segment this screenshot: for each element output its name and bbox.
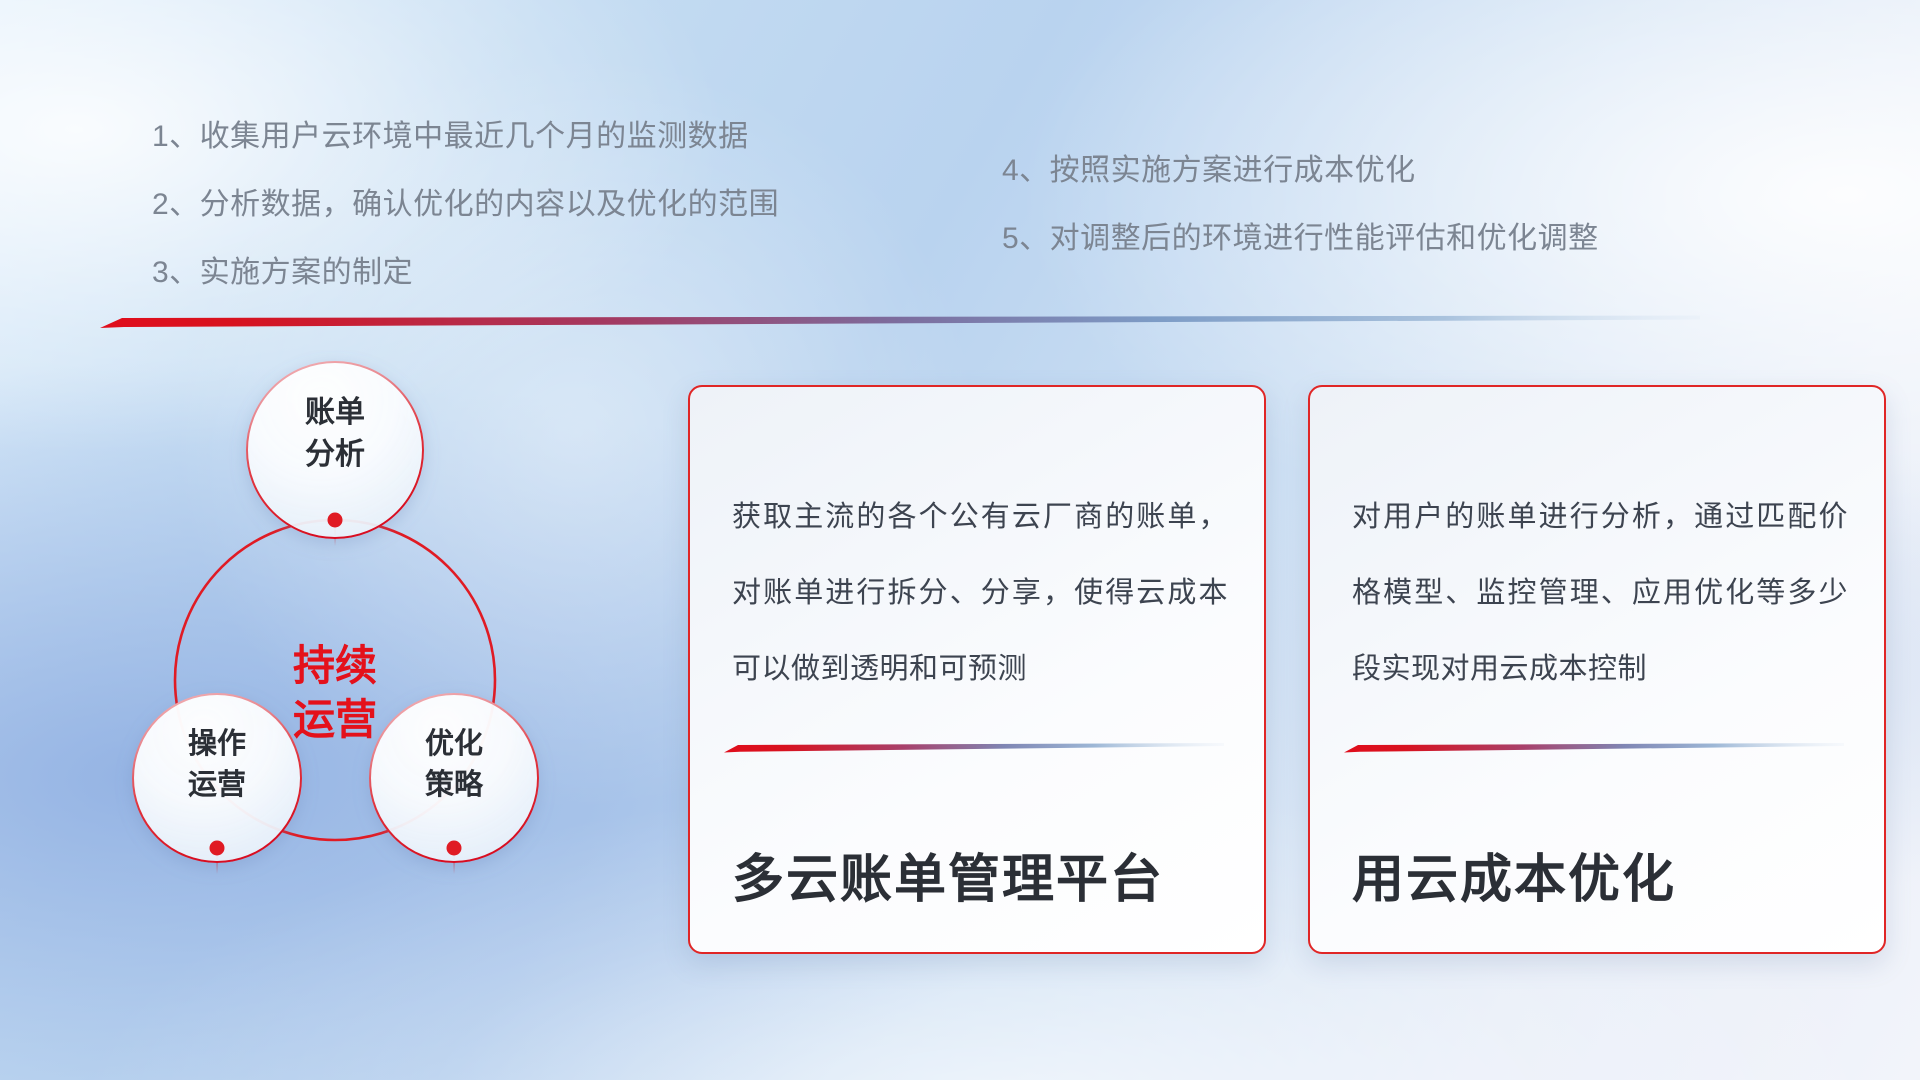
card-multicloud-billing[interactable]: 获取主流的各个公有云厂商的账单，对账单进行拆分、分享，使得云成本可以做到透明和可… bbox=[688, 385, 1266, 954]
node-top-label-line1: 账单 bbox=[305, 396, 365, 429]
step-item-2: 2、分析数据，确认优化的内容以及优化的范围 bbox=[152, 190, 779, 220]
card-title: 多云账单管理平台 bbox=[732, 837, 1244, 912]
node-bottom-right-label-line1: 优化 bbox=[425, 727, 483, 760]
step-item-5: 5、对调整后的环境进行性能评估和优化调整 bbox=[1002, 224, 1599, 254]
continuous-operation-diagram: 账单 分析 操作 运营 优化 策略 持续 运营 bbox=[90, 350, 650, 970]
center-label-line1: 持续 bbox=[293, 642, 377, 689]
node-bottom-right-dot bbox=[447, 841, 462, 856]
node-top-label-line2: 分析 bbox=[305, 438, 365, 471]
steps-list-left: 1、收集用户云环境中最近几个月的监测数据 2、分析数据，确认优化的内容以及优化的… bbox=[152, 122, 779, 326]
center-label-line2: 运营 bbox=[293, 696, 377, 743]
node-bottom-left-label-line1: 操作 bbox=[188, 727, 246, 760]
card-title: 用云成本优化 bbox=[1352, 837, 1864, 912]
node-bottom-right[interactable]: 优化 策略 bbox=[370, 694, 538, 862]
card-body-text: 获取主流的各个公有云厂商的账单，对账单进行拆分、分享，使得云成本可以做到透明和可… bbox=[732, 479, 1228, 707]
card-divider bbox=[724, 742, 1224, 754]
node-bottom-left[interactable]: 操作 运营 bbox=[133, 694, 301, 862]
node-top[interactable]: 账单 分析 bbox=[247, 362, 423, 538]
card-body-text: 对用户的账单进行分析，通过匹配价格模型、监控管理、应用优化等多少段实现对用云成本… bbox=[1352, 479, 1848, 707]
node-bottom-left-dot bbox=[210, 841, 225, 856]
section-divider bbox=[100, 314, 1700, 330]
node-bottom-left-label-line2: 运营 bbox=[188, 768, 246, 801]
step-item-4: 4、按照实施方案进行成本优化 bbox=[1002, 156, 1599, 186]
step-item-1: 1、收集用户云环境中最近几个月的监测数据 bbox=[152, 122, 779, 152]
step-item-3: 3、实施方案的制定 bbox=[152, 258, 779, 288]
node-top-dot bbox=[328, 513, 343, 528]
node-bottom-right-label-line2: 策略 bbox=[425, 767, 484, 801]
card-cloud-cost-optimization[interactable]: 对用户的账单进行分析，通过匹配价格模型、监控管理、应用优化等多少段实现对用云成本… bbox=[1308, 385, 1886, 954]
steps-list-right: 4、按照实施方案进行成本优化 5、对调整后的环境进行性能评估和优化调整 bbox=[1002, 156, 1599, 292]
card-divider bbox=[1344, 742, 1844, 754]
